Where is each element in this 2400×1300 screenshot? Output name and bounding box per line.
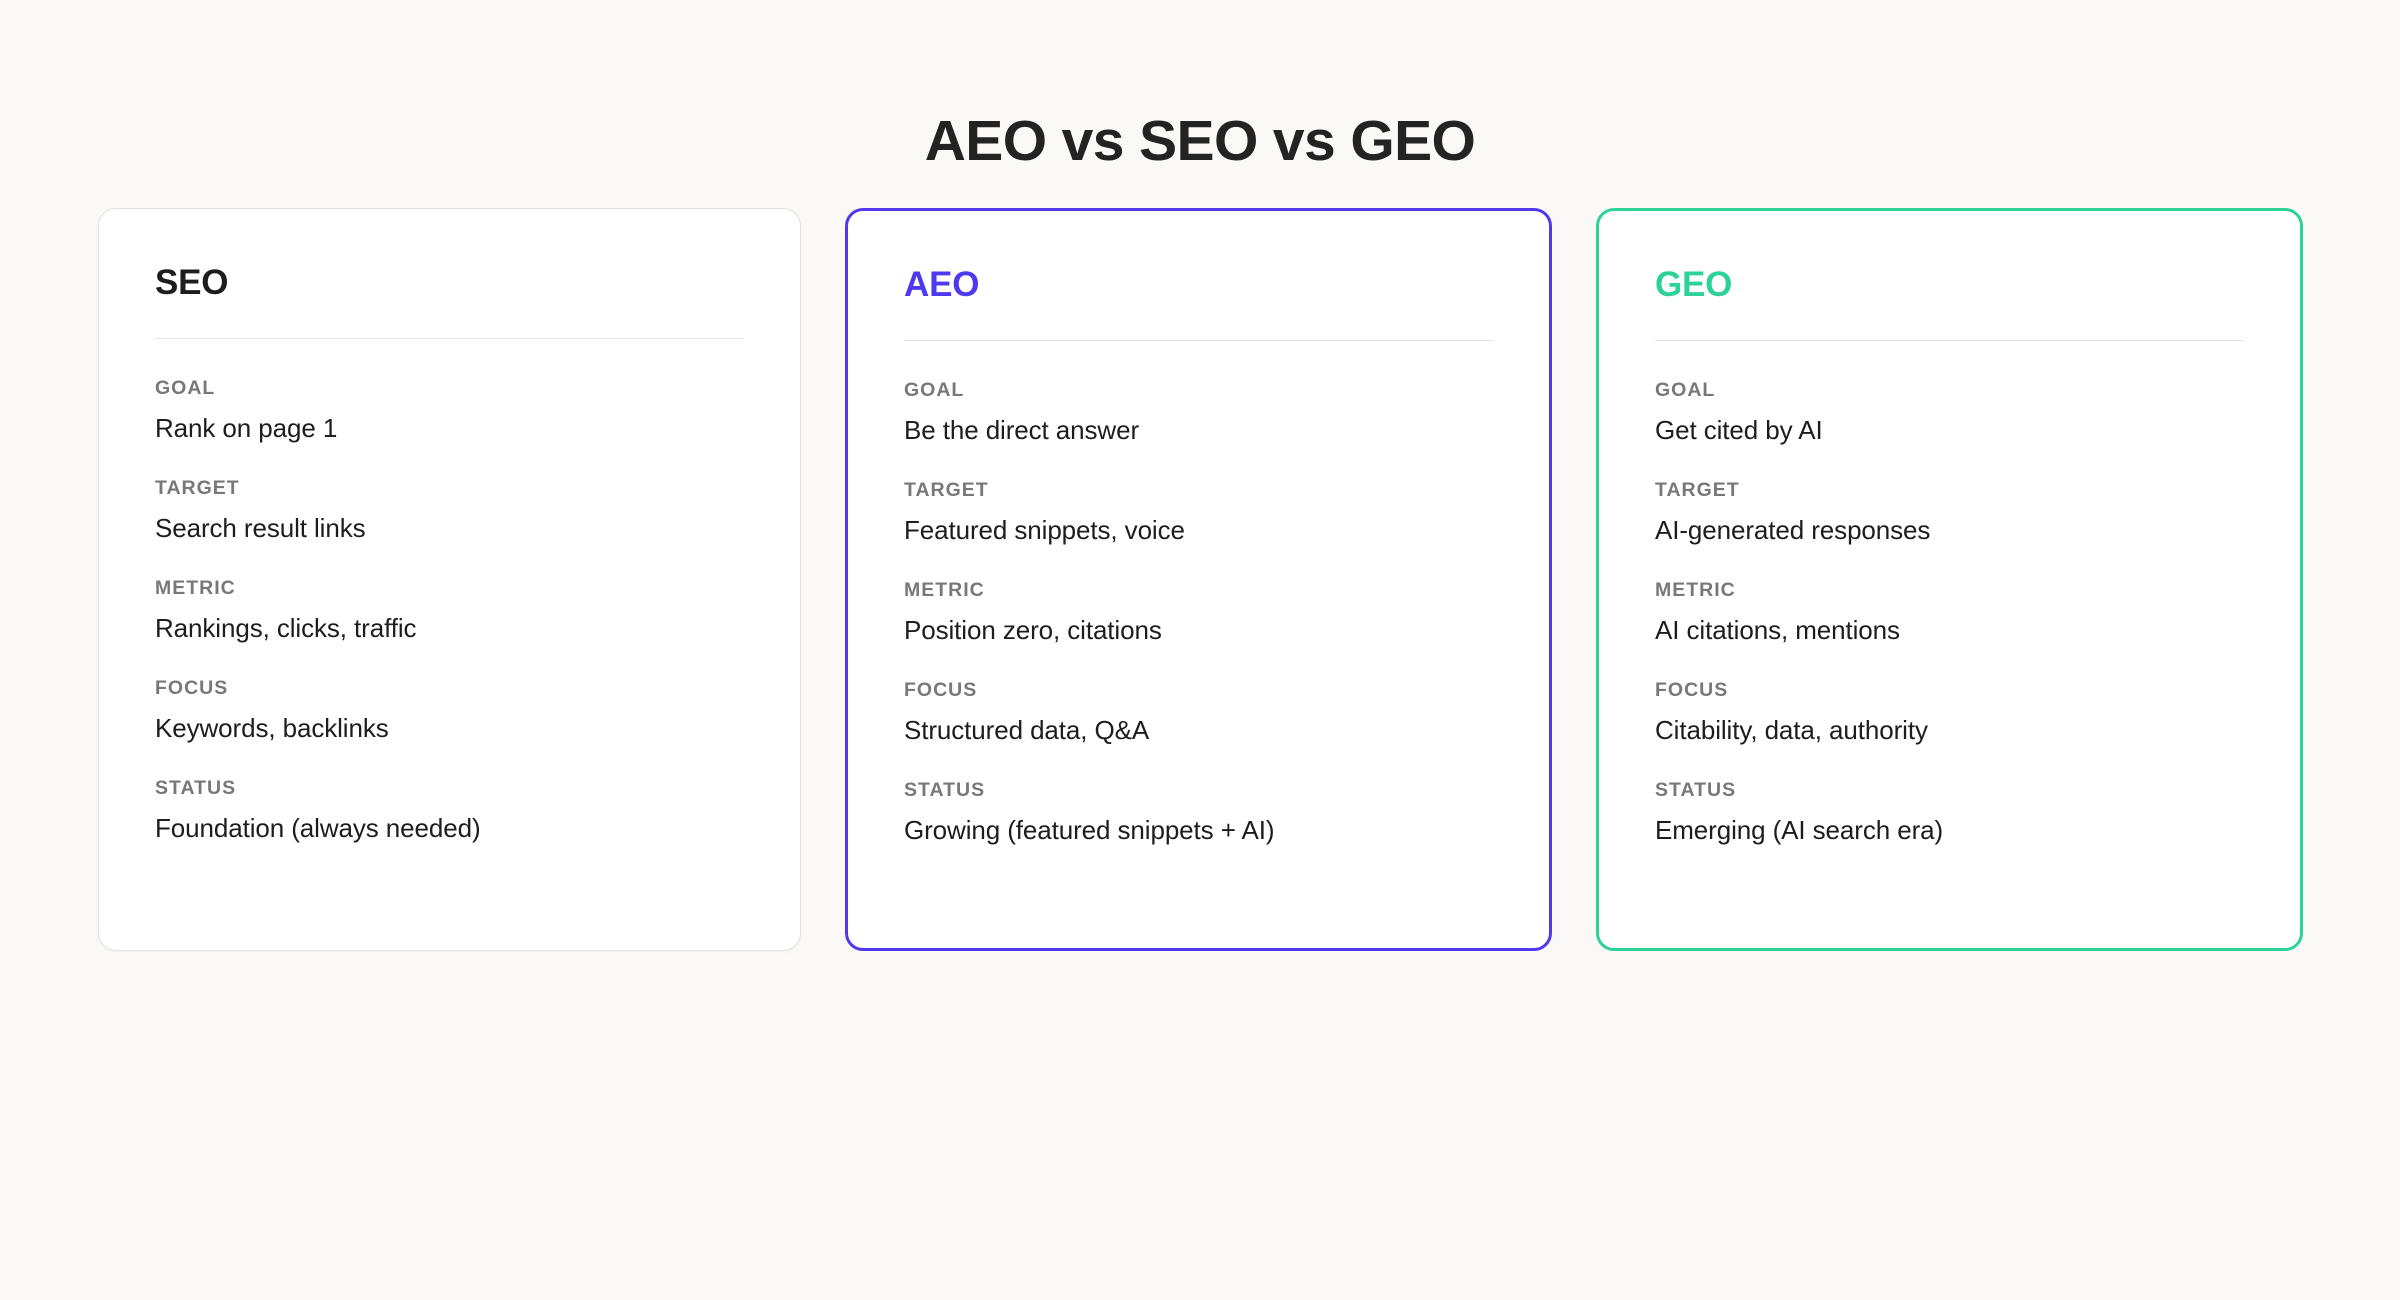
attribute-label: FOCUS [155, 678, 744, 699]
attribute-value: Search result links [155, 512, 744, 545]
attribute-label: TARGET [155, 478, 744, 499]
attribute-value: Foundation (always needed) [155, 812, 744, 845]
attribute-label: GOAL [155, 378, 744, 399]
card-divider [1655, 340, 2244, 341]
attribute-row: METRIC AI citations, mentions [1655, 580, 2244, 647]
attribute-label: TARGET [1655, 480, 2244, 501]
attribute-row: TARGET Featured snippets, voice [904, 480, 1493, 547]
attribute-value: Be the direct answer [904, 414, 1493, 447]
attribute-label: FOCUS [1655, 680, 2244, 701]
attribute-label: FOCUS [904, 680, 1493, 701]
comparison-card-geo: GEO GOAL Get cited by AI TARGET AI-gener… [1596, 208, 2303, 951]
attribute-row: FOCUS Structured data, Q&A [904, 680, 1493, 747]
attribute-value: Rankings, clicks, traffic [155, 612, 744, 645]
card-divider [904, 340, 1493, 341]
attribute-label: METRIC [155, 578, 744, 599]
attribute-row: STATUS Growing (featured snippets + AI) [904, 780, 1493, 847]
attribute-label: METRIC [1655, 580, 2244, 601]
attribute-label: METRIC [904, 580, 1493, 601]
attribute-label: GOAL [1655, 380, 2244, 401]
attribute-row: GOAL Be the direct answer [904, 380, 1493, 447]
attribute-value: AI citations, mentions [1655, 614, 2244, 647]
comparison-card-seo: SEO GOAL Rank on page 1 TARGET Search re… [98, 208, 801, 951]
attribute-value: Get cited by AI [1655, 414, 2244, 447]
card-heading-seo: SEO [155, 265, 744, 300]
attribute-row: METRIC Rankings, clicks, traffic [155, 578, 744, 645]
comparison-card-aeo: AEO GOAL Be the direct answer TARGET Fea… [845, 208, 1552, 951]
attribute-value: Keywords, backlinks [155, 712, 744, 745]
attribute-row: FOCUS Keywords, backlinks [155, 678, 744, 745]
attribute-row: FOCUS Citability, data, authority [1655, 680, 2244, 747]
attribute-label: STATUS [1655, 780, 2244, 801]
card-divider [155, 338, 744, 339]
attribute-row: STATUS Foundation (always needed) [155, 778, 744, 845]
page-title: AEO vs SEO vs GEO [0, 110, 2400, 173]
attribute-value: Position zero, citations [904, 614, 1493, 647]
attribute-value: Citability, data, authority [1655, 714, 2244, 747]
card-attribute-list: GOAL Get cited by AI TARGET AI-generated… [1655, 380, 2244, 847]
attribute-value: Structured data, Q&A [904, 714, 1493, 747]
attribute-row: GOAL Get cited by AI [1655, 380, 2244, 447]
attribute-label: STATUS [904, 780, 1493, 801]
attribute-row: TARGET Search result links [155, 478, 744, 545]
comparison-card-grid: SEO GOAL Rank on page 1 TARGET Search re… [98, 208, 2303, 951]
attribute-row: METRIC Position zero, citations [904, 580, 1493, 647]
card-heading-aeo: AEO [904, 267, 1493, 302]
attribute-label: STATUS [155, 778, 744, 799]
attribute-value: Growing (featured snippets + AI) [904, 814, 1493, 847]
attribute-label: GOAL [904, 380, 1493, 401]
comparison-page: AEO vs SEO vs GEO SEO GOAL Rank on page … [0, 0, 2400, 1300]
attribute-row: GOAL Rank on page 1 [155, 378, 744, 445]
attribute-value: AI-generated responses [1655, 514, 2244, 547]
attribute-value: Emerging (AI search era) [1655, 814, 2244, 847]
attribute-value: Featured snippets, voice [904, 514, 1493, 547]
attribute-value: Rank on page 1 [155, 412, 744, 445]
attribute-row: STATUS Emerging (AI search era) [1655, 780, 2244, 847]
card-heading-geo: GEO [1655, 267, 2244, 302]
card-attribute-list: GOAL Be the direct answer TARGET Feature… [904, 380, 1493, 847]
attribute-row: TARGET AI-generated responses [1655, 480, 2244, 547]
card-attribute-list: GOAL Rank on page 1 TARGET Search result… [155, 378, 744, 845]
attribute-label: TARGET [904, 480, 1493, 501]
